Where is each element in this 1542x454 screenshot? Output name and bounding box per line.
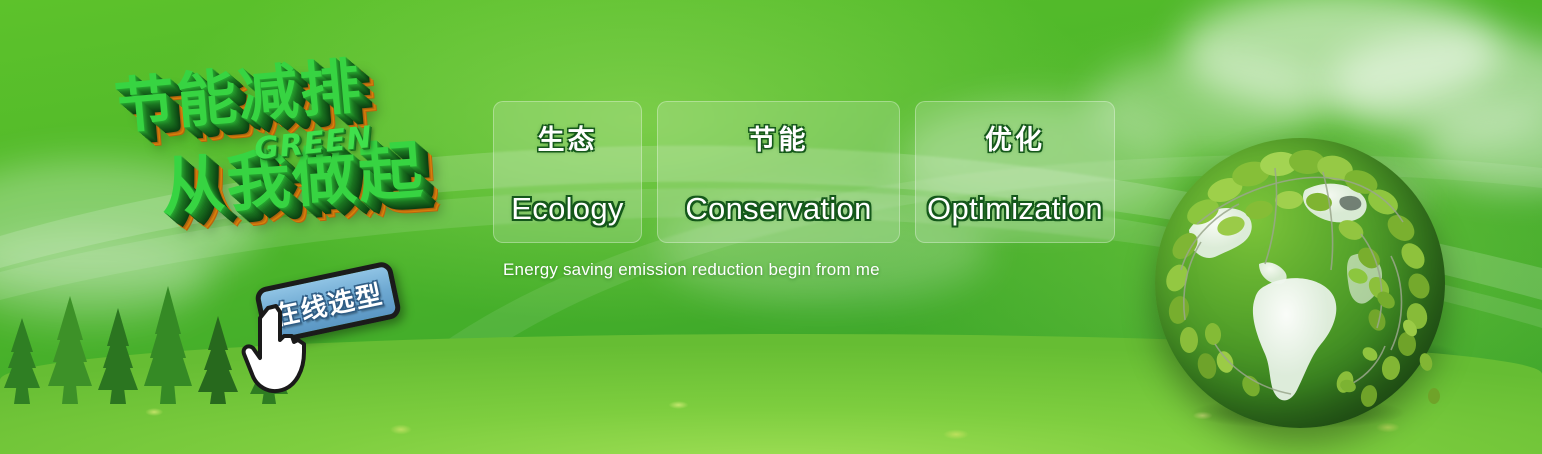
eco-promo-banner: 节能减排 GREEN 从我做起 在线选型 生态 Ecology 节能 Conse… xyxy=(0,0,1542,454)
campaign-logo: 节能减排 GREEN 从我做起 xyxy=(92,28,492,268)
feature-card-ecology[interactable]: 生态 Ecology xyxy=(493,101,642,243)
card-title-en: Optimization xyxy=(927,191,1103,227)
card-title-en: Ecology xyxy=(511,191,623,227)
cloud-shape xyxy=(1180,0,1500,110)
feature-cards: 生态 Ecology 节能 Conservation 优化 Optimizati… xyxy=(493,101,1115,243)
banner-subtitle: Energy saving emission reduction begin f… xyxy=(503,260,880,280)
card-title-cn: 节能 xyxy=(749,118,809,157)
card-title-en: Conservation xyxy=(685,191,871,227)
feature-card-optimization[interactable]: 优化 Optimization xyxy=(915,101,1115,243)
feature-card-conservation[interactable]: 节能 Conservation xyxy=(657,101,900,243)
leaf-globe-illustration xyxy=(1140,128,1460,448)
card-title-cn: 优化 xyxy=(985,118,1045,157)
card-title-cn: 生态 xyxy=(538,118,598,157)
hand-pointer-icon xyxy=(238,300,318,394)
cloud-shape xyxy=(1330,30,1542,140)
falling-leaves xyxy=(1330,258,1480,428)
